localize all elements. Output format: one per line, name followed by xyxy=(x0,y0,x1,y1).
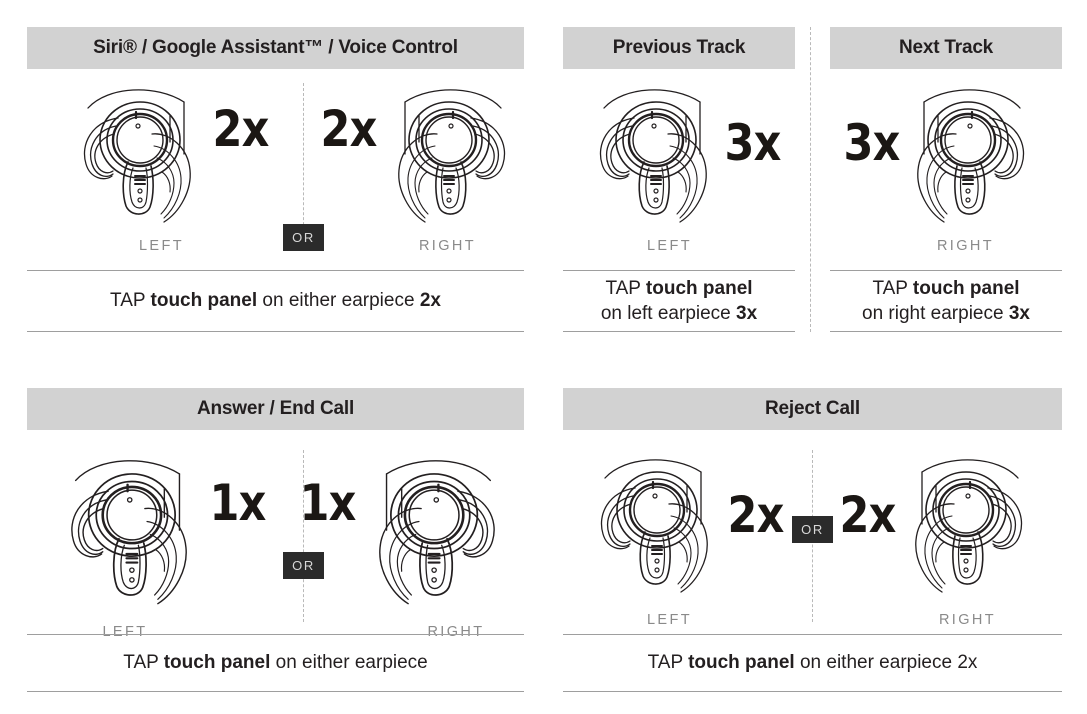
header-row-top: Siri® / Google Assistant™ / Voice Contro… xyxy=(27,27,524,69)
side-label-left: LEFT xyxy=(647,238,692,254)
tap-count-right: 1x xyxy=(300,478,356,528)
panel-voice-control-illustration: OR xyxy=(27,78,524,263)
caption-text: TAP touch panel on right earpiece 3x xyxy=(862,276,1030,327)
caption-text: TAP touch panel on either earpiece 2x xyxy=(648,650,978,675)
caption-bold: touch panel xyxy=(164,652,271,673)
earpiece-art-row-left: 2x xyxy=(56,78,273,226)
earpiece-art-row-left: 2x xyxy=(573,448,788,596)
earpiece-unit-left: 2x LEFT xyxy=(573,448,788,628)
caption-bold: touch panel xyxy=(913,278,1020,299)
earpiece-unit-right: 2x xyxy=(835,448,1050,628)
panel-divider-dotted xyxy=(303,83,304,245)
or-badge: OR xyxy=(792,516,833,543)
earpiece-unit-left: 1x LEFT xyxy=(41,448,271,640)
caption-bold: touch panel xyxy=(688,652,795,673)
panel-reject-call-illustration: OR xyxy=(563,448,1062,638)
earpiece-unit-left: 3x LEFT xyxy=(571,78,786,254)
side-label-right: RIGHT xyxy=(937,238,994,254)
header-gap xyxy=(795,27,830,69)
caption-lead: TAP xyxy=(123,652,163,673)
earpiece-art-row-left: 3x xyxy=(572,78,785,226)
side-label-left: LEFT xyxy=(647,612,692,628)
header-row-tracks: Previous Track Next Track xyxy=(563,27,1062,69)
earpiece-unit-right: 2x xyxy=(317,78,532,254)
caption-trail: 3x xyxy=(1009,303,1030,324)
earpiece-unit-right: 1x xyxy=(295,448,525,640)
caption-answer-end-call: TAP touch panel on either earpiece xyxy=(27,634,524,692)
panel-answer-end-call-illustration: OR xyxy=(27,448,524,638)
tap-count-left: 2x xyxy=(728,490,784,540)
caption-lead: TAP xyxy=(605,278,645,299)
header-row-bottom-right: Reject Call xyxy=(563,388,1062,430)
panel-header-answer-end-call: Answer / End Call xyxy=(27,388,524,430)
ear-with-earbud-icon-left xyxy=(56,78,202,226)
or-badge: OR xyxy=(283,224,324,251)
instruction-sheet: Siri® / Google Assistant™ / Voice Contro… xyxy=(0,0,1087,714)
caption-line2: on right earpiece xyxy=(862,303,1009,324)
caption-voice-control: TAP touch panel on either earpiece 2x xyxy=(27,270,524,332)
caption-previous-track: TAP touch panel on left earpiece 3x xyxy=(563,270,795,332)
caption-text: TAP touch panel on either earpiece xyxy=(123,650,428,675)
earpiece-art-row-left: 1x xyxy=(41,448,270,608)
caption-lead: TAP xyxy=(872,278,912,299)
ear-with-earbud-icon-left xyxy=(573,448,719,596)
side-label-right: RIGHT xyxy=(419,238,476,254)
earpiece-art-row-right: 2x xyxy=(316,78,533,226)
caption-trail: 2x xyxy=(420,290,441,311)
side-label-left: LEFT xyxy=(139,238,184,254)
caption-rest: on either earpiece xyxy=(257,290,420,311)
tap-count-right: 2x xyxy=(321,104,377,154)
ear-with-earbud-icon-right xyxy=(387,78,533,226)
panel-header-previous-track: Previous Track xyxy=(563,27,795,69)
ear-with-earbud-icon-right xyxy=(904,448,1050,596)
tap-count-left: 3x xyxy=(725,118,781,168)
panel-next-track-illustration: 3x xyxy=(830,78,1062,263)
ear-with-earbud-icon-right xyxy=(906,78,1052,226)
caption-reject-call: TAP touch panel on either earpiece 2x xyxy=(563,634,1062,692)
caption-line2: on left earpiece xyxy=(601,303,736,324)
caption-rest: on either earpiece xyxy=(270,652,427,673)
caption-lead: TAP xyxy=(110,290,150,311)
or-badge: OR xyxy=(283,552,324,579)
panel-header-voice-control: Siri® / Google Assistant™ / Voice Contro… xyxy=(27,27,524,69)
ear-with-earbud-icon-right xyxy=(367,448,525,608)
caption-next-track: TAP touch panel on right earpiece 3x xyxy=(830,270,1062,332)
ear-with-earbud-icon-left xyxy=(41,448,199,608)
earpiece-art-row-right: 2x xyxy=(835,448,1050,596)
header-row-bottom-left: Answer / End Call xyxy=(27,388,524,430)
tap-count-left: 1x xyxy=(210,478,266,528)
panel-header-reject-call: Reject Call xyxy=(563,388,1062,430)
panel-header-next-track: Next Track xyxy=(830,27,1062,69)
ear-with-earbud-icon-left xyxy=(572,78,718,226)
earpiece-unit-left: 2x LEFT xyxy=(57,78,272,254)
caption-rest: on either earpiece 2x xyxy=(795,652,978,673)
caption-bold: touch panel xyxy=(151,290,258,311)
tap-count-right: 2x xyxy=(840,490,896,540)
panel-previous-track-illustration: 3x LEFT xyxy=(563,78,795,263)
earpiece-art-row-right: 3x xyxy=(839,78,1052,226)
tap-count-right: 3x xyxy=(844,118,900,168)
earpiece-art-row-right: 1x xyxy=(295,448,524,608)
track-panels-divider-dotted xyxy=(810,27,811,332)
caption-text: TAP touch panel on left earpiece 3x xyxy=(601,276,757,327)
side-label-right: RIGHT xyxy=(939,612,996,628)
caption-lead: TAP xyxy=(648,652,688,673)
caption-text: TAP touch panel on either earpiece 2x xyxy=(110,288,441,313)
earpiece-unit-right: 3x xyxy=(838,78,1053,254)
caption-trail: 3x xyxy=(736,303,757,324)
tap-count-left: 2x xyxy=(213,104,269,154)
caption-bold: touch panel xyxy=(646,278,753,299)
